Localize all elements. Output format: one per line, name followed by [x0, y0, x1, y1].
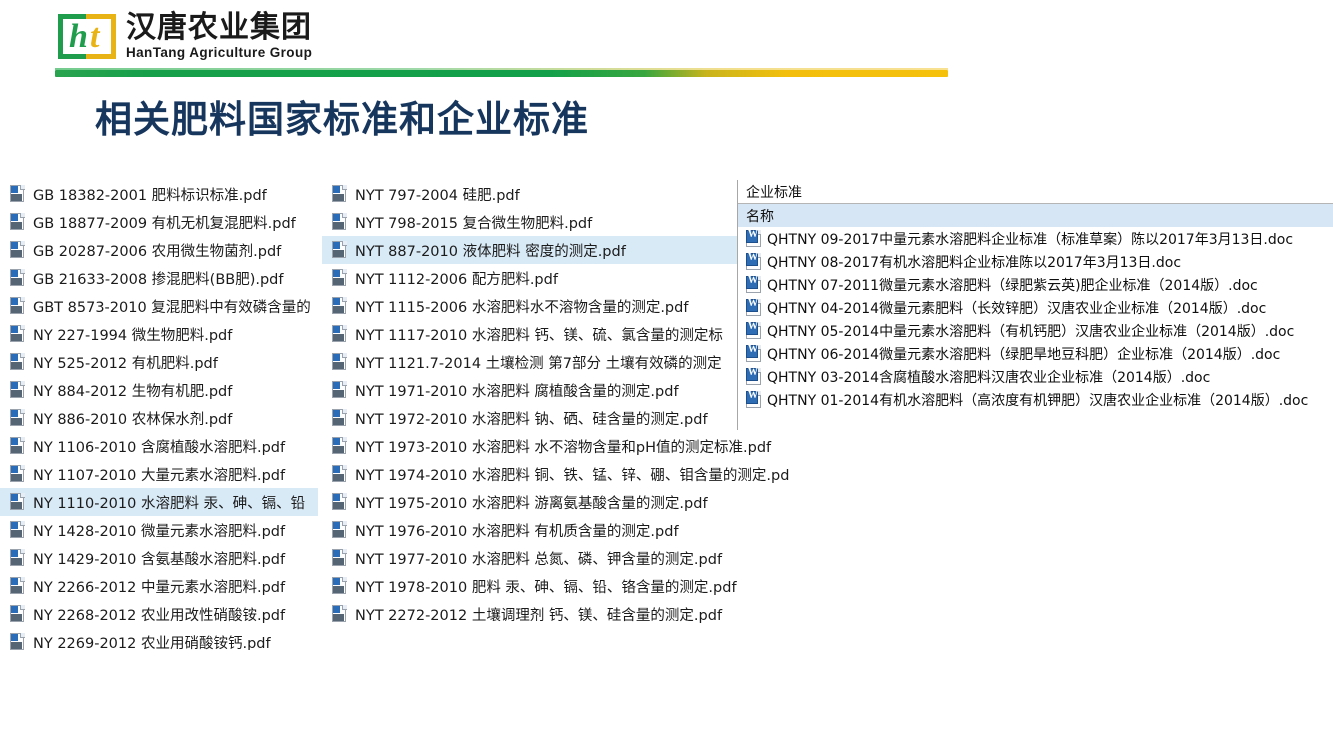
pdf-file-icon: [10, 577, 26, 595]
pdf-file-icon: [10, 437, 26, 455]
pdf-file-icon: [10, 241, 26, 259]
logo-name-cn: 汉唐农业集团: [126, 12, 312, 44]
page-title: 相关肥料国家标准和企业标准: [95, 89, 589, 143]
file-name-label: GB 18382-2001 肥料标识标准.pdf: [33, 184, 267, 205]
pdf-file-icon: [332, 241, 348, 259]
logo-letter-t: t: [90, 18, 99, 56]
file-list-item[interactable]: NYT 1977-2010 水溶肥料 总氮、磷、钾含量的测定.pdf: [322, 544, 822, 572]
pdf-file-icon: [10, 353, 26, 371]
file-name-label: GBT 8573-2010 复混肥料中有效磷含量的: [33, 296, 311, 317]
file-list-item[interactable]: QHTNY 03-2014含腐植酸水溶肥料汉唐农业企业标准（2014版）.doc: [738, 365, 1333, 388]
pdf-file-icon: [332, 297, 348, 315]
pdf-file-icon: [10, 381, 26, 399]
file-list-item[interactable]: GB 21633-2008 掺混肥料(BB肥).pdf: [0, 264, 318, 292]
file-name-label: NYT 1971-2010 水溶肥料 腐植酸含量的测定.pdf: [355, 380, 679, 401]
pdf-file-icon: [10, 213, 26, 231]
file-list-item[interactable]: NY 525-2012 有机肥料.pdf: [0, 348, 318, 376]
file-list-item[interactable]: NY 1110-2010 水溶肥料 汞、砷、镉、铅: [0, 488, 318, 516]
column-header-name[interactable]: 名称: [738, 204, 1333, 227]
file-name-label: NYT 2272-2012 土壤调理剂 钙、镁、硅含量的测定.pdf: [355, 604, 722, 625]
word-file-icon: [746, 299, 762, 317]
file-list-item[interactable]: NYT 1978-2010 肥料 汞、砷、镉、铅、铬含量的测定.pdf: [322, 572, 822, 600]
file-list-item[interactable]: NY 1429-2010 含氨基酸水溶肥料.pdf: [0, 544, 318, 572]
file-list-item[interactable]: NY 2266-2012 中量元素水溶肥料.pdf: [0, 572, 318, 600]
pdf-file-icon: [332, 325, 348, 343]
file-list-item[interactable]: QHTNY 07-2011微量元素水溶肥料（绿肥紫云英)肥企业标准（2014版）…: [738, 273, 1333, 296]
file-name-label: NY 1107-2010 大量元素水溶肥料.pdf: [33, 464, 285, 485]
file-list-enterprise: QHTNY 09-2017中量元素水溶肥料企业标准（标准草案）陈以2017年3月…: [738, 227, 1333, 411]
pdf-file-icon: [332, 353, 348, 371]
file-list-item[interactable]: GB 18382-2001 肥料标识标准.pdf: [0, 180, 318, 208]
file-name-label: NY 884-2012 生物有机肥.pdf: [33, 380, 232, 401]
file-name-label: NY 2269-2012 农业用硝酸铵钙.pdf: [33, 632, 271, 651]
pdf-file-icon: [332, 437, 348, 455]
word-file-icon: [746, 345, 762, 363]
logo-name-en: HanTang Agriculture Group: [126, 45, 312, 60]
file-name-label: NY 2266-2012 中量元素水溶肥料.pdf: [33, 576, 285, 597]
word-file-icon: [746, 391, 762, 409]
file-name-label: NY 525-2012 有机肥料.pdf: [33, 352, 218, 373]
file-list-item[interactable]: QHTNY 08-2017有机水溶肥料企业标准陈以2017年3月13日.doc: [738, 250, 1333, 273]
file-name-label: NYT 1973-2010 水溶肥料 水不溶物含量和pH值的测定标准.pdf: [355, 436, 771, 457]
file-list-item[interactable]: NY 2269-2012 农业用硝酸铵钙.pdf: [0, 628, 318, 650]
clipped-artifact-right: [737, 428, 807, 436]
word-file-icon: [746, 276, 762, 294]
header-divider: [55, 70, 948, 77]
file-list-item[interactable]: NYT 2272-2012 土壤调理剂 钙、镁、硅含量的测定.pdf: [322, 600, 822, 628]
file-list-item[interactable]: GB 18877-2009 有机无机复混肥料.pdf: [0, 208, 318, 236]
file-name-label: GB 18877-2009 有机无机复混肥料.pdf: [33, 212, 296, 233]
pdf-file-icon: [10, 269, 26, 287]
file-name-label: NYT 798-2015 复合微生物肥料.pdf: [355, 212, 592, 233]
file-name-label: NYT 1117-2010 水溶肥料 钙、镁、硫、氯含量的测定标: [355, 324, 723, 345]
file-name-label: QHTNY 03-2014含腐植酸水溶肥料汉唐农业企业标准（2014版）.doc: [767, 367, 1210, 387]
logo-wordmark: 汉唐农业集团 HanTang Agriculture Group: [126, 12, 312, 60]
pdf-file-icon: [332, 605, 348, 623]
file-name-label: NY 886-2010 农林保水剂.pdf: [33, 408, 232, 429]
file-list-item[interactable]: QHTNY 09-2017中量元素水溶肥料企业标准（标准草案）陈以2017年3月…: [738, 227, 1333, 250]
file-name-label: QHTNY 09-2017中量元素水溶肥料企业标准（标准草案）陈以2017年3月…: [767, 229, 1293, 249]
enterprise-standards-panel: 企业标准 名称 QHTNY 09-2017中量元素水溶肥料企业标准（标准草案）陈…: [737, 180, 1333, 430]
file-list-item[interactable]: GBT 8573-2010 复混肥料中有效磷含量的: [0, 292, 318, 320]
pdf-file-icon: [332, 381, 348, 399]
file-name-label: NY 2268-2012 农业用改性硝酸铵.pdf: [33, 604, 285, 625]
file-name-label: NYT 887-2010 液体肥料 密度的测定.pdf: [355, 240, 626, 261]
pdf-file-icon: [332, 185, 348, 203]
pdf-file-icon: [10, 465, 26, 483]
word-file-icon: [746, 368, 762, 386]
pdf-file-icon: [332, 409, 348, 427]
file-name-label: QHTNY 06-2014微量元素水溶肥料（绿肥旱地豆科肥）企业标准（2014版…: [767, 344, 1280, 364]
company-logo: h t 汉唐农业集团 HanTang Agriculture Group: [58, 12, 312, 60]
file-list-gb: GB 18382-2001 肥料标识标准.pdfGB 18877-2009 有机…: [0, 180, 318, 650]
file-list-item[interactable]: NYT 1975-2010 水溶肥料 游离氨基酸含量的测定.pdf: [322, 488, 822, 516]
pdf-file-icon: [10, 549, 26, 567]
file-list-item[interactable]: NY 1428-2010 微量元素水溶肥料.pdf: [0, 516, 318, 544]
file-list-item[interactable]: GB 20287-2006 农用微生物菌剂.pdf: [0, 236, 318, 264]
pdf-file-icon: [10, 493, 26, 511]
file-name-label: NYT 1974-2010 水溶肥料 铜、铁、锰、锌、硼、钼含量的测定.pd: [355, 464, 789, 485]
file-name-label: GB 21633-2008 掺混肥料(BB肥).pdf: [33, 268, 284, 289]
breadcrumb[interactable]: 企业标准: [738, 180, 1333, 204]
pdf-file-icon: [332, 549, 348, 567]
national-standards-panel: GB 18382-2001 肥料标识标准.pdfGB 18877-2009 有机…: [0, 180, 318, 650]
file-name-label: NYT 1121.7-2014 土壤检测 第7部分 土壤有效磷的测定: [355, 352, 722, 373]
file-name-label: QHTNY 08-2017有机水溶肥料企业标准陈以2017年3月13日.doc: [767, 252, 1181, 272]
file-name-label: NYT 1975-2010 水溶肥料 游离氨基酸含量的测定.pdf: [355, 492, 708, 513]
pdf-file-icon: [10, 325, 26, 343]
file-list-item[interactable]: NY 1106-2010 含腐植酸水溶肥料.pdf: [0, 432, 318, 460]
pdf-file-icon: [332, 521, 348, 539]
pdf-file-icon: [10, 633, 26, 650]
file-name-label: NY 1429-2010 含氨基酸水溶肥料.pdf: [33, 548, 285, 569]
file-list-item[interactable]: NY 1107-2010 大量元素水溶肥料.pdf: [0, 460, 318, 488]
file-name-label: NYT 1976-2010 水溶肥料 有机质含量的测定.pdf: [355, 520, 679, 541]
word-file-icon: [746, 253, 762, 271]
file-name-label: QHTNY 07-2011微量元素水溶肥料（绿肥紫云英)肥企业标准（2014版）…: [767, 275, 1258, 295]
file-name-label: NYT 1112-2006 配方肥料.pdf: [355, 268, 558, 289]
file-list-item[interactable]: NYT 1974-2010 水溶肥料 铜、铁、锰、锌、硼、钼含量的测定.pd: [322, 460, 822, 488]
file-list-item[interactable]: QHTNY 04-2014微量元素肥料（长效锌肥）汉唐农业企业标准（2014版）…: [738, 296, 1333, 319]
file-name-label: NYT 1977-2010 水溶肥料 总氮、磷、钾含量的测定.pdf: [355, 548, 722, 569]
file-name-label: GB 20287-2006 农用微生物菌剂.pdf: [33, 240, 281, 261]
pdf-file-icon: [10, 605, 26, 623]
pdf-file-icon: [332, 493, 348, 511]
pdf-file-icon: [332, 213, 348, 231]
file-name-label: QHTNY 04-2014微量元素肥料（长效锌肥）汉唐农业企业标准（2014版）…: [767, 298, 1266, 318]
pdf-file-icon: [10, 521, 26, 539]
file-name-label: NYT 1978-2010 肥料 汞、砷、镉、铅、铬含量的测定.pdf: [355, 576, 737, 597]
file-name-label: NYT 797-2004 硅肥.pdf: [355, 184, 520, 205]
file-name-label: QHTNY 01-2014有机水溶肥料（高浓度有机钾肥）汉唐农业企业标准（201…: [767, 390, 1308, 410]
file-list-item[interactable]: QHTNY 05-2014中量元素水溶肥料（有机钙肥）汉唐农业企业标准（2014…: [738, 319, 1333, 342]
file-list-item[interactable]: NY 227-1994 微生物肥料.pdf: [0, 320, 318, 348]
file-name-label: NYT 1115-2006 水溶肥料水不溶物含量的测定.pdf: [355, 296, 688, 317]
logo-letter-h: h: [69, 18, 88, 56]
file-list-item[interactable]: NY 886-2010 农林保水剂.pdf: [0, 404, 318, 432]
word-file-icon: [746, 322, 762, 340]
pdf-file-icon: [10, 297, 26, 315]
pdf-file-icon: [332, 465, 348, 483]
file-list-item[interactable]: NYT 1976-2010 水溶肥料 有机质含量的测定.pdf: [322, 516, 822, 544]
file-name-label: NYT 1972-2010 水溶肥料 钠、硒、硅含量的测定.pdf: [355, 408, 708, 429]
file-name-label: NY 227-1994 微生物肥料.pdf: [33, 324, 232, 345]
file-list-item[interactable]: NY 884-2012 生物有机肥.pdf: [0, 376, 318, 404]
pdf-file-icon: [332, 269, 348, 287]
file-name-label: NY 1110-2010 水溶肥料 汞、砷、镉、铅: [33, 492, 305, 513]
pdf-file-icon: [10, 409, 26, 427]
pdf-file-icon: [332, 577, 348, 595]
file-list-item[interactable]: NYT 1973-2010 水溶肥料 水不溶物含量和pH值的测定标准.pdf: [322, 432, 822, 460]
file-list-item[interactable]: QHTNY 06-2014微量元素水溶肥料（绿肥旱地豆科肥）企业标准（2014版…: [738, 342, 1333, 365]
file-list-item[interactable]: QHTNY 01-2014有机水溶肥料（高浓度有机钾肥）汉唐农业企业标准（201…: [738, 388, 1333, 411]
pdf-file-icon: [10, 185, 26, 203]
file-name-label: QHTNY 05-2014中量元素水溶肥料（有机钙肥）汉唐农业企业标准（2014…: [767, 321, 1294, 341]
logo-mark-icon: h t: [58, 14, 116, 59]
file-name-label: NY 1106-2010 含腐植酸水溶肥料.pdf: [33, 436, 285, 457]
word-file-icon: [746, 230, 762, 248]
file-list-item[interactable]: NY 2268-2012 农业用改性硝酸铵.pdf: [0, 600, 318, 628]
file-name-label: NY 1428-2010 微量元素水溶肥料.pdf: [33, 520, 285, 541]
